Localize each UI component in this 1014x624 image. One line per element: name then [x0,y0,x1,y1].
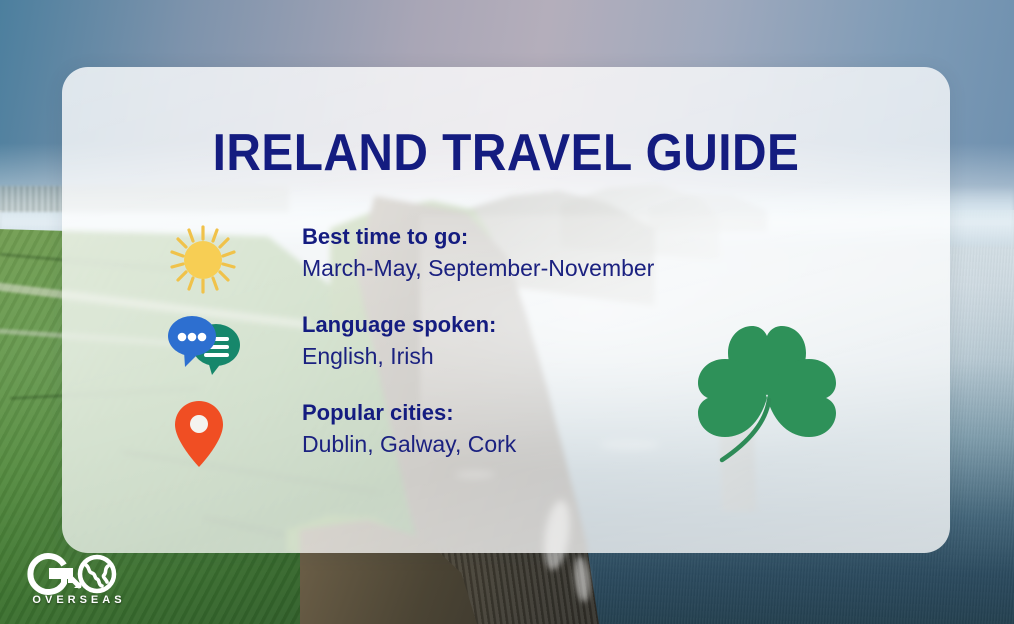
fact-value: Dublin, Galway, Cork [302,431,654,457]
fact-list: Best time to go: March-May, September-No… [150,225,654,489]
fact-row-best-time: Best time to go: March-May, September-No… [150,225,654,313]
go-overseas-logo: OVERSEAS [24,552,134,614]
sun-icon [168,221,254,301]
travel-guide-graphic: IRELAND TRAVEL GUIDE [0,0,1014,624]
fact-value: March-May, September-November [302,255,654,281]
fact-label: Popular cities: [302,401,654,425]
logo-wordmark: OVERSEAS [24,594,134,606]
fact-row-cities: Popular cities: Dublin, Galway, Cork [150,401,654,489]
map-pin-icon [168,397,254,477]
page-title: IRELAND TRAVEL GUIDE [98,123,915,183]
fact-value: English, Irish [302,343,654,369]
fact-label: Language spoken: [302,313,654,337]
fact-label: Best time to go: [302,225,654,249]
speech-bubbles-icon [168,309,254,389]
go-overseas-globe-icon [24,552,134,596]
shamrock-icon [672,300,862,470]
fact-row-language: Language spoken: English, Irish [150,313,654,401]
